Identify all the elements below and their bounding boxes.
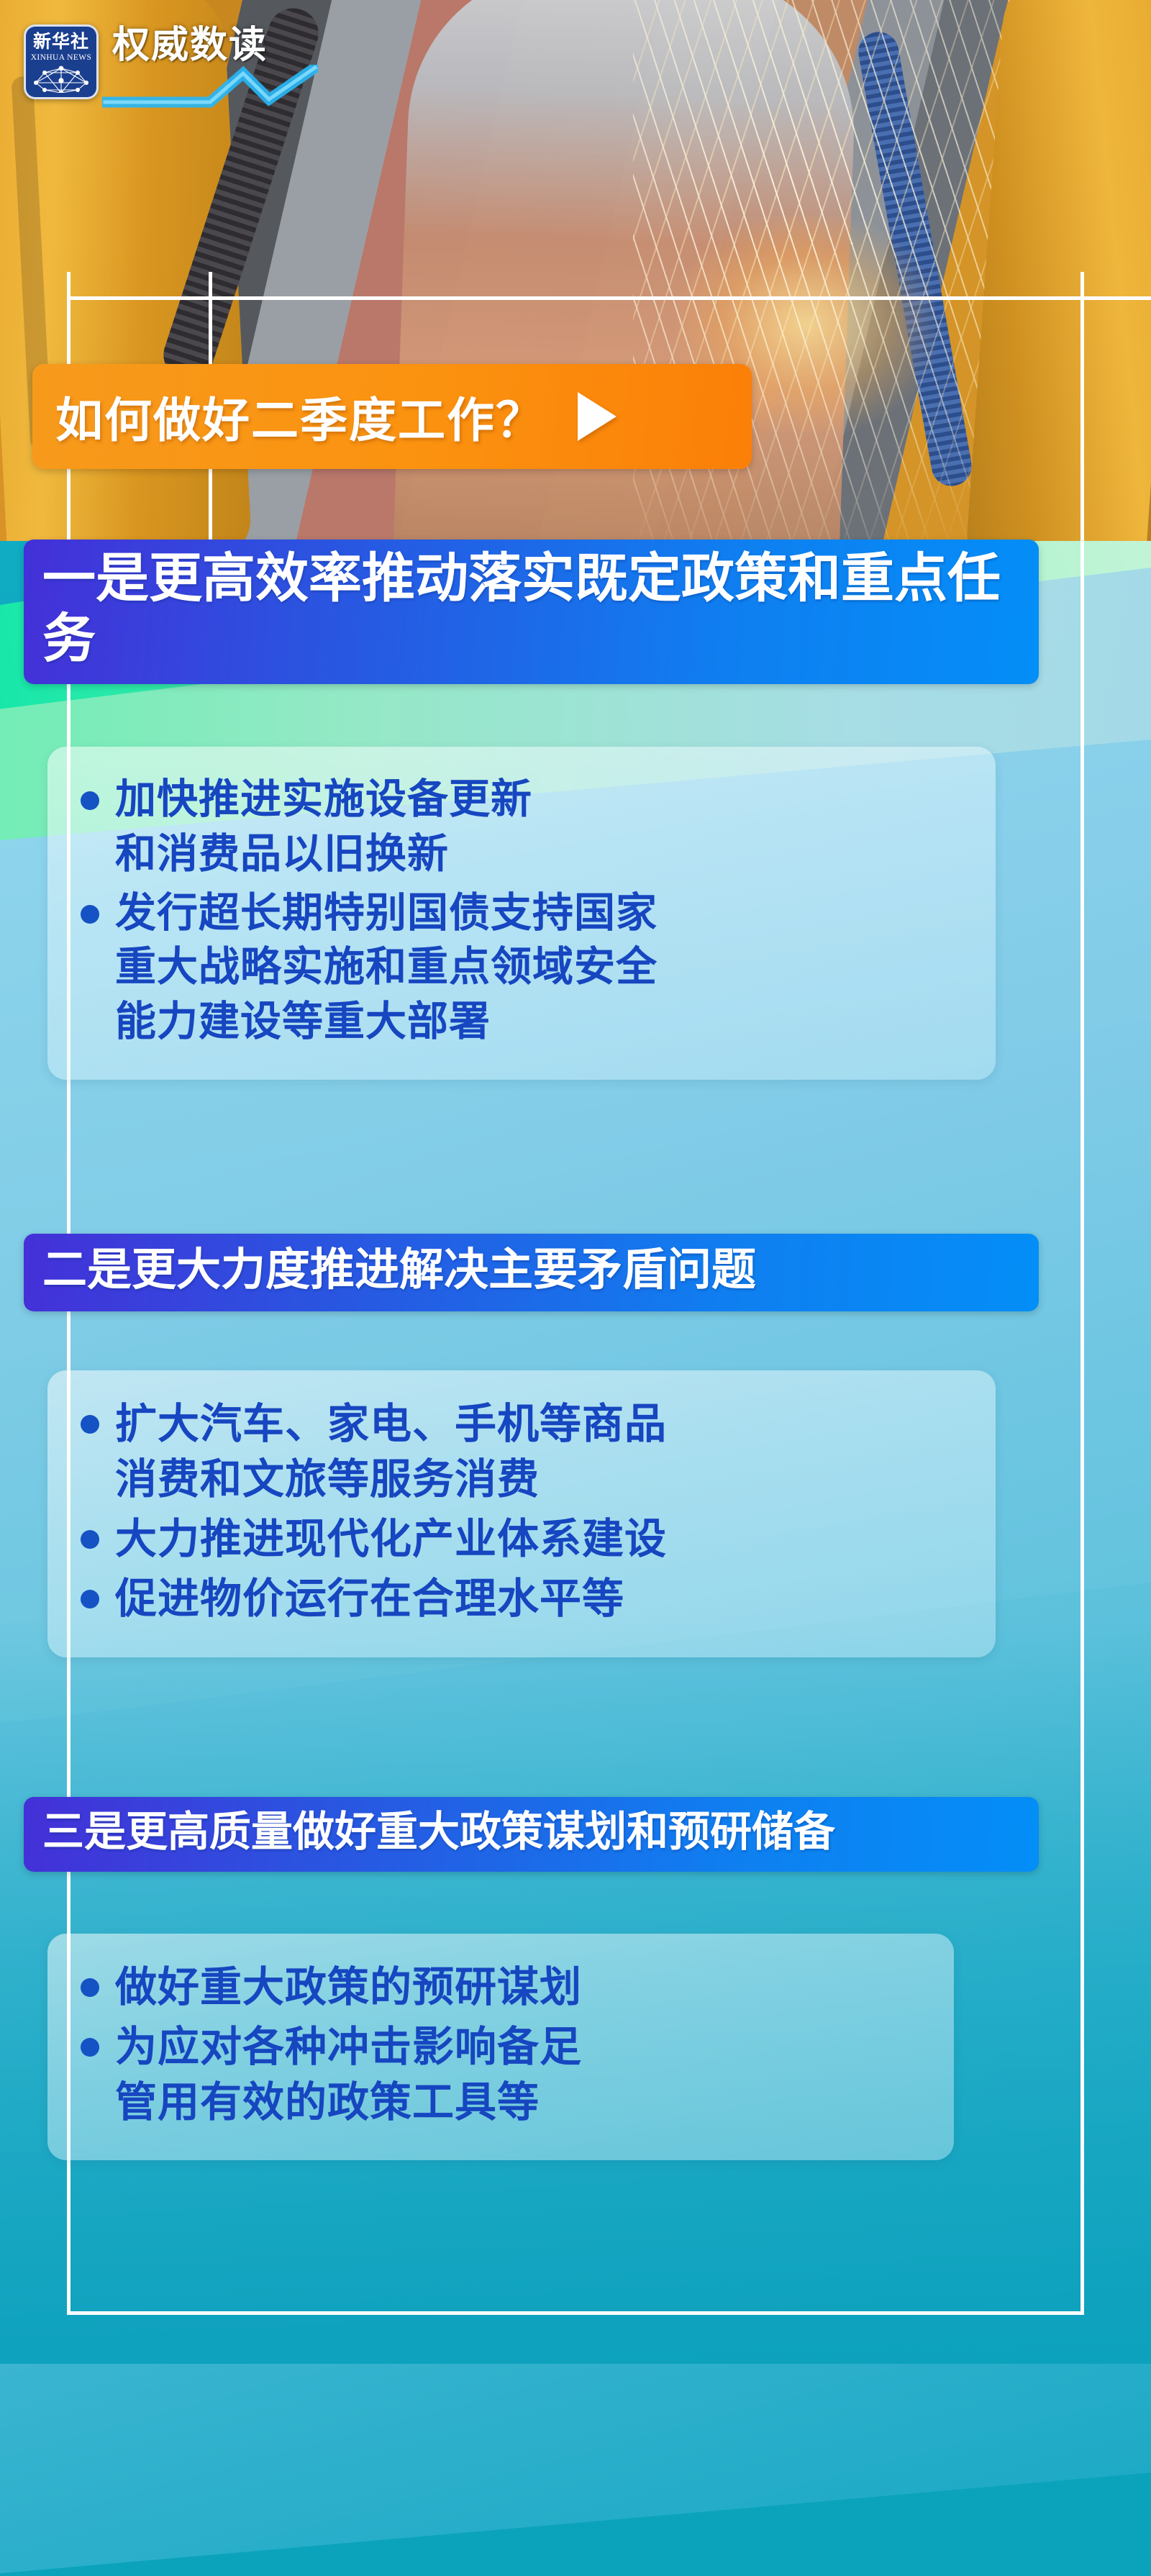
list-item: 做好重大政策的预研谋划 (81, 1960, 932, 2015)
bullet-dot-icon (81, 1530, 99, 1549)
list-item: 加快推进实施设备更新 和消费品以旧换新 (81, 773, 974, 882)
section-heading-1-label: 一是更高效率推动落实既定政策和重点任务 (42, 550, 1020, 670)
bullet-text: 大力推进现代化产业体系建设 (115, 1511, 667, 1567)
bullet-text: 加快推进实施设备更新 和消费品以旧换新 (115, 773, 532, 882)
bullet-dot-icon (81, 1590, 99, 1608)
list-item: 为应对各种冲击影响备足 管用有效的政策工具等 (81, 2019, 932, 2130)
bullet-dot-icon (81, 2038, 99, 2057)
list-item: 促进物价运行在合理水平等 (81, 1571, 974, 1626)
list-item: 大力推进现代化产业体系建设 (81, 1511, 974, 1567)
bullet-list-2: 扩大汽车、家电、手机等商品 消费和文旅等服务消费 大力推进现代化产业体系建设 促… (81, 1396, 974, 1627)
bullet-text: 做好重大政策的预研谋划 (115, 1960, 582, 2015)
section-content-card-1: 加快推进实施设备更新 和消费品以旧换新 发行超长期特别国债支持国家 重大战略实施… (47, 747, 996, 1080)
section-content-card-3: 做好重大政策的预研谋划 为应对各种冲击影响备足 管用有效的政策工具等 (47, 1934, 954, 2160)
section-heading-3-label: 三是更高质量做好重大政策谋划和预研储备 (42, 1807, 1020, 1857)
xinhua-logo: 新华社 XINHUA NEWS (24, 24, 99, 99)
bullet-dot-icon (81, 905, 99, 924)
section-heading-2: 二是更大力度推进解决主要矛盾问题 (24, 1234, 1039, 1311)
play-triangle-icon (578, 392, 617, 441)
section-heading-3: 三是更高质量做好重大政策谋划和预研储备 (24, 1797, 1039, 1872)
network-globe-icon (33, 64, 89, 96)
bullet-dot-icon (81, 1415, 99, 1434)
list-item: 发行超长期特别国债支持国家 重大战略实施和重点领域安全 能力建设等重大部署 (81, 886, 974, 1050)
bullet-dot-icon (81, 791, 99, 810)
main-title-banner: 如何做好二季度工作？ (32, 364, 752, 469)
zigzag-chart-icon (102, 65, 318, 126)
page-title: 如何做好二季度工作？ (55, 382, 545, 451)
list-item: 扩大汽车、家电、手机等商品 消费和文旅等服务消费 (81, 1396, 974, 1507)
logo-chinese-name: 新华社 (33, 33, 89, 51)
bullet-list-1: 加快推进实施设备更新 和消费品以旧换新 发行超长期特别国债支持国家 重大战略实施… (81, 773, 974, 1050)
logo-english-name: XINHUA NEWS (31, 53, 92, 62)
program-badge-label: 权威数读 (108, 27, 268, 65)
section-heading-1: 一是更高效率推动落实既定政策和重点任务 (24, 540, 1039, 684)
bullet-text: 发行超长期特别国债支持国家 重大战略实施和重点领域安全 能力建设等重大部署 (115, 886, 658, 1050)
bullet-text: 为应对各种冲击影响备足 管用有效的政策工具等 (115, 2019, 582, 2130)
bullet-list-3: 做好重大政策的预研谋划 为应对各种冲击影响备足 管用有效的政策工具等 (81, 1960, 932, 2130)
program-badge: 权威数读 (108, 27, 268, 106)
bullet-text: 促进物价运行在合理水平等 (115, 1571, 624, 1626)
section-content-card-2: 扩大汽车、家电、手机等商品 消费和文旅等服务消费 大力推进现代化产业体系建设 促… (47, 1370, 996, 1657)
section-heading-2-label: 二是更大力度推进解决主要矛盾问题 (42, 1244, 1020, 1297)
bullet-text: 扩大汽车、家电、手机等商品 消费和文旅等服务消费 (115, 1396, 667, 1507)
bullet-dot-icon (81, 1978, 99, 1997)
